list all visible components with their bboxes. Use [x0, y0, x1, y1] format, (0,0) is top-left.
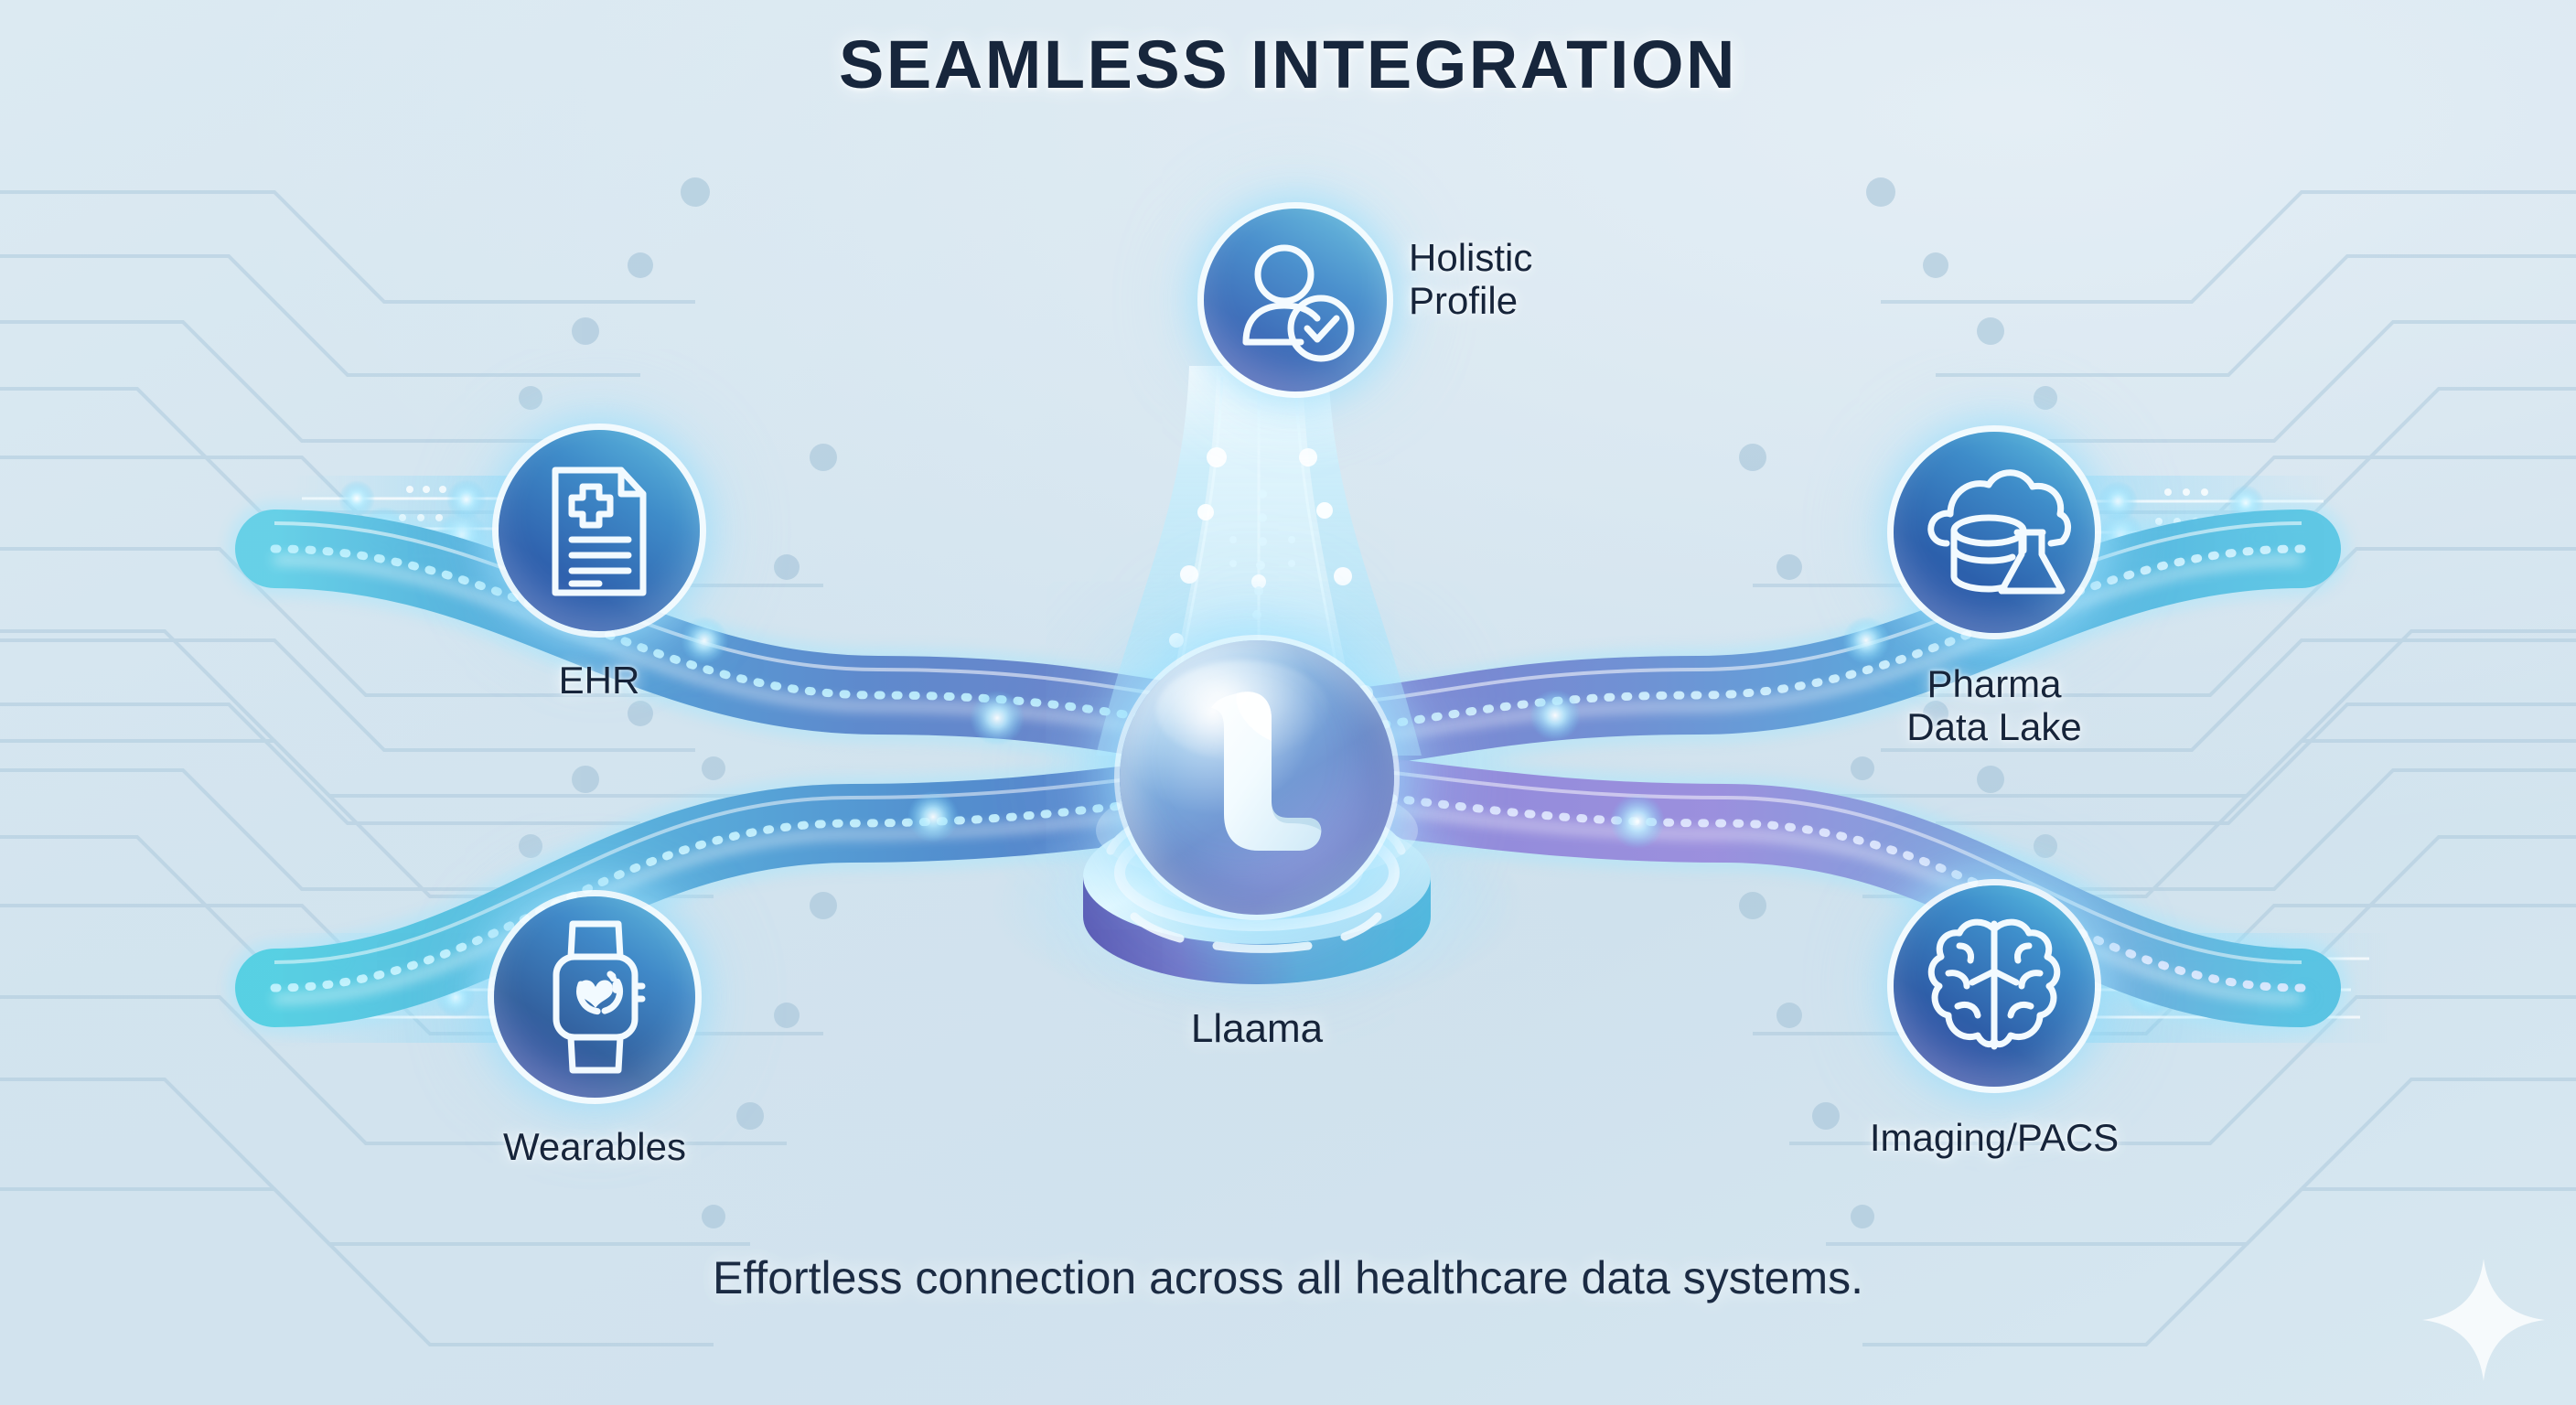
cloud-database-flask-icon — [1894, 432, 2095, 633]
holistic-profile-circle[interactable] — [1204, 209, 1387, 391]
medical-record-icon — [499, 430, 700, 631]
node-pharma-data-lake[interactable]: Pharma Data Lake — [1894, 432, 2095, 633]
node-holistic-profile[interactable]: Holistic Profile — [1204, 209, 1387, 391]
four-point-sparkle-icon — [2415, 1251, 2552, 1389]
hub-llaama[interactable] — [1120, 640, 1394, 915]
ribbon-hub-to-imaging — [1350, 768, 2302, 999]
pharma-data-lake-circle[interactable] — [1894, 432, 2095, 633]
imaging-pacs-circle[interactable] — [1894, 885, 2095, 1087]
brain-icon — [1894, 885, 2095, 1087]
ehr-circle[interactable] — [499, 430, 700, 631]
smartwatch-heart-icon — [494, 896, 695, 1098]
page-title: SEAMLESS INTEGRATION — [0, 26, 2576, 103]
infographic-canvas: SEAMLESS INTEGRATION Holistic Profile — [0, 0, 2576, 1405]
llaama-logo-icon — [1120, 640, 1394, 915]
caption-text: Effortless connection across all healthc… — [0, 1251, 2576, 1304]
ribbon-wearables-to-hub — [274, 768, 1226, 999]
pharma-data-lake-label: Pharma Data Lake — [1756, 662, 2232, 748]
node-imaging-pacs[interactable]: Imaging/PACS — [1894, 885, 2095, 1087]
node-ehr[interactable]: EHR — [499, 430, 700, 631]
imaging-pacs-label: Imaging/PACS — [1756, 1116, 2232, 1159]
ribbon-ehr-to-hub — [274, 523, 1226, 739]
holistic-profile-label: Holistic Profile — [1409, 236, 1683, 322]
wearables-circle[interactable] — [494, 896, 695, 1098]
wearables-label: Wearables — [357, 1125, 832, 1168]
node-wearables[interactable]: Wearables — [494, 896, 695, 1098]
ehr-label: EHR — [361, 659, 837, 702]
hub-label: Llaama — [1019, 1006, 1495, 1052]
user-verified-icon — [1204, 209, 1387, 391]
